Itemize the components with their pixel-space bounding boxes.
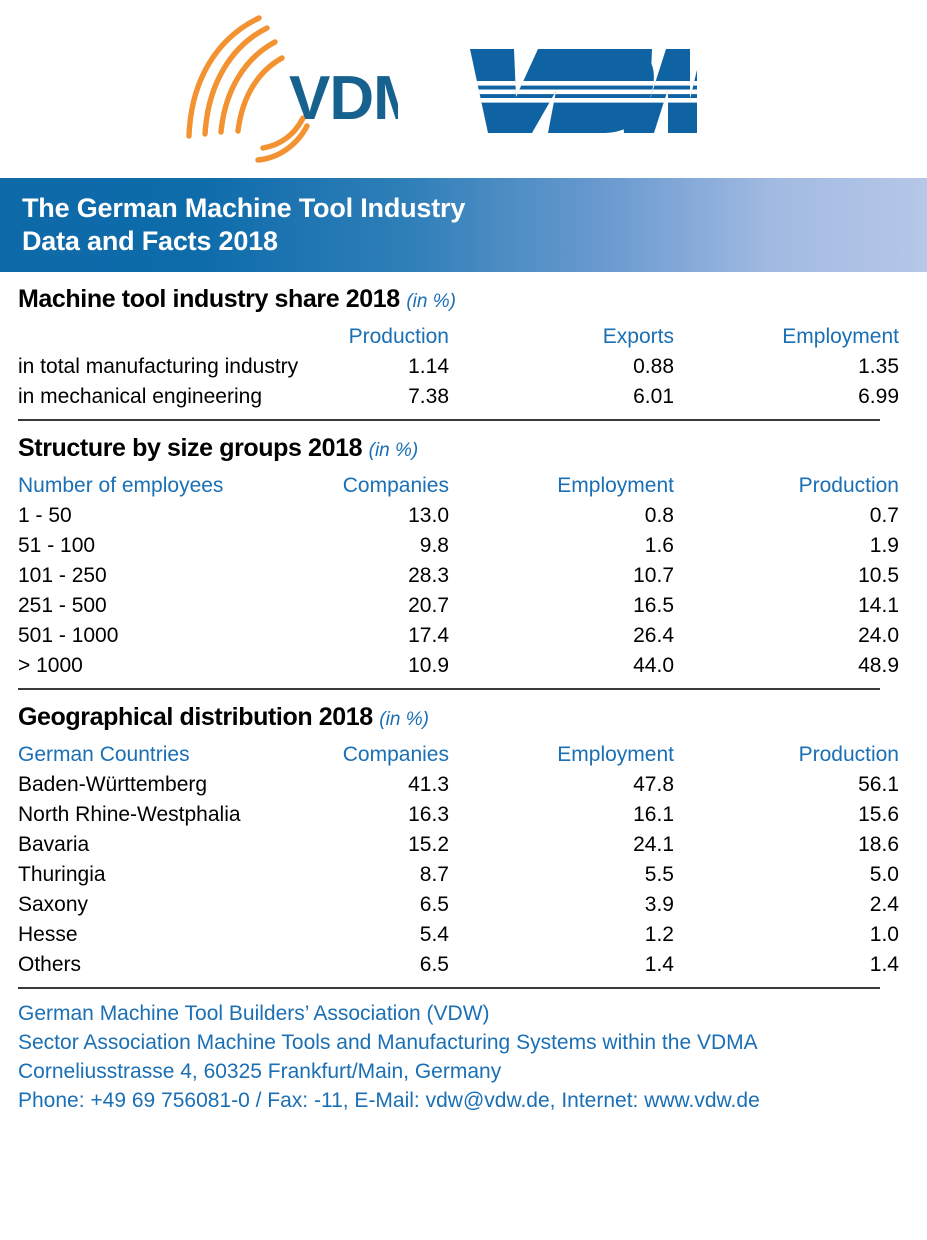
row-label: Baden-Württemberg	[18, 770, 318, 800]
row-label: 51 - 100	[18, 531, 318, 561]
footer-organisation-name: German Machine Tool Builders’ Associatio…	[18, 999, 880, 1028]
row-label: Hesse	[18, 920, 318, 950]
cell-production: 7.38	[318, 382, 449, 412]
cell-companies: 41.3	[318, 770, 449, 800]
footer-contact-details: Phone: +49 69 756081-0 / Fax: -11, E-Mai…	[18, 1086, 880, 1115]
cell-production: 48.9	[674, 651, 899, 681]
column-header-employment: Employment	[449, 471, 674, 501]
column-header-production: Production	[674, 471, 899, 501]
table-row: Saxony 6.5 3.9 2.4	[18, 890, 899, 920]
row-label: 101 - 250	[18, 561, 318, 591]
cell-employment: 1.4	[449, 950, 674, 980]
cell-companies: 6.5	[318, 950, 449, 980]
column-header-number-of-employees: Number of employees	[18, 471, 318, 501]
banner-title-line-1: The German Machine Tool Industry	[22, 192, 927, 225]
table-row: Baden-Württemberg 41.3 47.8 56.1	[18, 770, 899, 800]
table-row: 51 - 100 9.8 1.6 1.9	[18, 531, 899, 561]
footer-contact-block: German Machine Tool Builders’ Associatio…	[18, 989, 880, 1115]
title-banner: The German Machine Tool Industry Data an…	[0, 178, 927, 272]
cell-companies: 6.5	[318, 890, 449, 920]
cell-companies: 28.3	[318, 561, 449, 591]
cell-employment: 26.4	[449, 621, 674, 651]
cell-companies: 5.4	[318, 920, 449, 950]
banner-title-line-2: Data and Facts 2018	[22, 225, 927, 258]
table-geographical-distribution: German Countries Companies Employment Pr…	[18, 740, 899, 980]
footer-address: Corneliusstrasse 4, 60325 Frankfurt/Main…	[18, 1057, 880, 1086]
cell-companies: 9.8	[318, 531, 449, 561]
cell-production: 2.4	[674, 890, 899, 920]
table-row: > 1000 10.9 44.0 48.9	[18, 651, 899, 681]
column-header-german-countries: German Countries	[18, 740, 318, 770]
cell-employment: 10.7	[449, 561, 674, 591]
cell-production: 24.0	[674, 621, 899, 651]
column-header-exports: Exports	[449, 322, 674, 352]
row-label: Others	[18, 950, 318, 980]
table-row: 1 - 50 13.0 0.8 0.7	[18, 501, 899, 531]
cell-employment: 44.0	[449, 651, 674, 681]
content-area: Machine tool industry share 2018 (in %) …	[0, 272, 927, 1115]
cell-production: 0.7	[674, 501, 899, 531]
section-title-unit: (in %)	[406, 291, 456, 312]
cell-companies: 16.3	[318, 800, 449, 830]
cell-production: 14.1	[674, 591, 899, 621]
section-title-text: Geographical distribution 2018	[18, 703, 373, 731]
table-header-row: Number of employees Companies Employment…	[18, 471, 899, 501]
cell-production: 1.9	[674, 531, 899, 561]
row-label: 1 - 50	[18, 501, 318, 531]
row-label: 251 - 500	[18, 591, 318, 621]
table-row: in total manufacturing industry 1.14 0.8…	[18, 352, 899, 382]
table-row: Hesse 5.4 1.2 1.0	[18, 920, 899, 950]
table-row: 251 - 500 20.7 16.5 14.1	[18, 591, 899, 621]
row-label: 501 - 1000	[18, 621, 318, 651]
cell-exports: 6.01	[449, 382, 674, 412]
column-header-production: Production	[318, 322, 449, 352]
row-label: > 1000	[18, 651, 318, 681]
section-title-unit: (in %)	[379, 709, 429, 730]
column-header-companies: Companies	[318, 471, 449, 501]
cell-employment: 0.8	[449, 501, 674, 531]
cell-production: 15.6	[674, 800, 899, 830]
row-label: in total manufacturing industry	[18, 352, 318, 382]
cell-companies: 13.0	[318, 501, 449, 531]
row-label: Saxony	[18, 890, 318, 920]
table-size-groups: Number of employees Companies Employment…	[18, 471, 899, 681]
column-header-label	[18, 322, 318, 352]
cell-production: 56.1	[674, 770, 899, 800]
row-label: Thuringia	[18, 860, 318, 890]
table-row: in mechanical engineering 7.38 6.01 6.99	[18, 382, 899, 412]
cell-employment: 3.9	[449, 890, 674, 920]
column-header-employment: Employment	[674, 322, 899, 352]
svg-text:VDMA: VDMA	[289, 64, 398, 133]
section-title-unit: (in %)	[369, 440, 419, 461]
cell-employment: 16.5	[449, 591, 674, 621]
cell-employment: 1.35	[674, 352, 899, 382]
cell-companies: 8.7	[318, 860, 449, 890]
table-row: North Rhine-Westphalia 16.3 16.1 15.6	[18, 800, 899, 830]
table-row: Thuringia 8.7 5.5 5.0	[18, 860, 899, 890]
cell-production: 10.5	[674, 561, 899, 591]
cell-production: 1.14	[318, 352, 449, 382]
cell-employment: 24.1	[449, 830, 674, 860]
cell-employment: 6.99	[674, 382, 899, 412]
cell-companies: 10.9	[318, 651, 449, 681]
cell-employment: 1.2	[449, 920, 674, 950]
cell-exports: 0.88	[449, 352, 674, 382]
table-row: Bavaria 15.2 24.1 18.6	[18, 830, 899, 860]
column-header-companies: Companies	[318, 740, 449, 770]
section-geographical-distribution: Geographical distribution 2018 (in %) Ge…	[18, 690, 880, 989]
cell-production: 18.6	[674, 830, 899, 860]
vdw-logo	[452, 41, 697, 137]
table-header-row: German Countries Companies Employment Pr…	[18, 740, 899, 770]
section-title: Structure by size groups 2018 (in %)	[18, 421, 880, 471]
section-machine-tool-industry-share: Machine tool industry share 2018 (in %) …	[18, 272, 880, 421]
table-row: Others 6.5 1.4 1.4	[18, 950, 899, 980]
section-title-text: Structure by size groups 2018	[18, 434, 362, 462]
table-industry-share: Production Exports Employment in total m…	[18, 322, 899, 412]
section-title: Machine tool industry share 2018 (in %)	[18, 272, 880, 322]
cell-employment: 16.1	[449, 800, 674, 830]
column-header-employment: Employment	[449, 740, 674, 770]
row-label: in mechanical engineering	[18, 382, 318, 412]
cell-employment: 1.6	[449, 531, 674, 561]
column-header-production: Production	[674, 740, 899, 770]
vdma-logo: VDMA	[183, 14, 398, 164]
vdma-logo-graphic: VDMA	[183, 14, 398, 164]
section-divider	[18, 987, 880, 989]
cell-companies: 20.7	[318, 591, 449, 621]
logo-bar: VDMA	[0, 0, 927, 178]
table-row: 501 - 1000 17.4 26.4 24.0	[18, 621, 899, 651]
section-title-text: Machine tool industry share 2018	[18, 285, 400, 313]
row-label: Bavaria	[18, 830, 318, 860]
table-header-row: Production Exports Employment	[18, 322, 899, 352]
cell-companies: 15.2	[318, 830, 449, 860]
section-structure-by-size-groups: Structure by size groups 2018 (in %) Num…	[18, 421, 880, 690]
cell-employment: 5.5	[449, 860, 674, 890]
cell-companies: 17.4	[318, 621, 449, 651]
cell-production: 1.4	[674, 950, 899, 980]
cell-production: 1.0	[674, 920, 899, 950]
section-title: Geographical distribution 2018 (in %)	[18, 690, 880, 740]
cell-production: 5.0	[674, 860, 899, 890]
vdw-logo-graphic	[452, 41, 697, 137]
row-label: North Rhine-Westphalia	[18, 800, 318, 830]
table-row: 101 - 250 28.3 10.7 10.5	[18, 561, 899, 591]
cell-employment: 47.8	[449, 770, 674, 800]
footer-sector-association: Sector Association Machine Tools and Man…	[18, 1028, 880, 1057]
